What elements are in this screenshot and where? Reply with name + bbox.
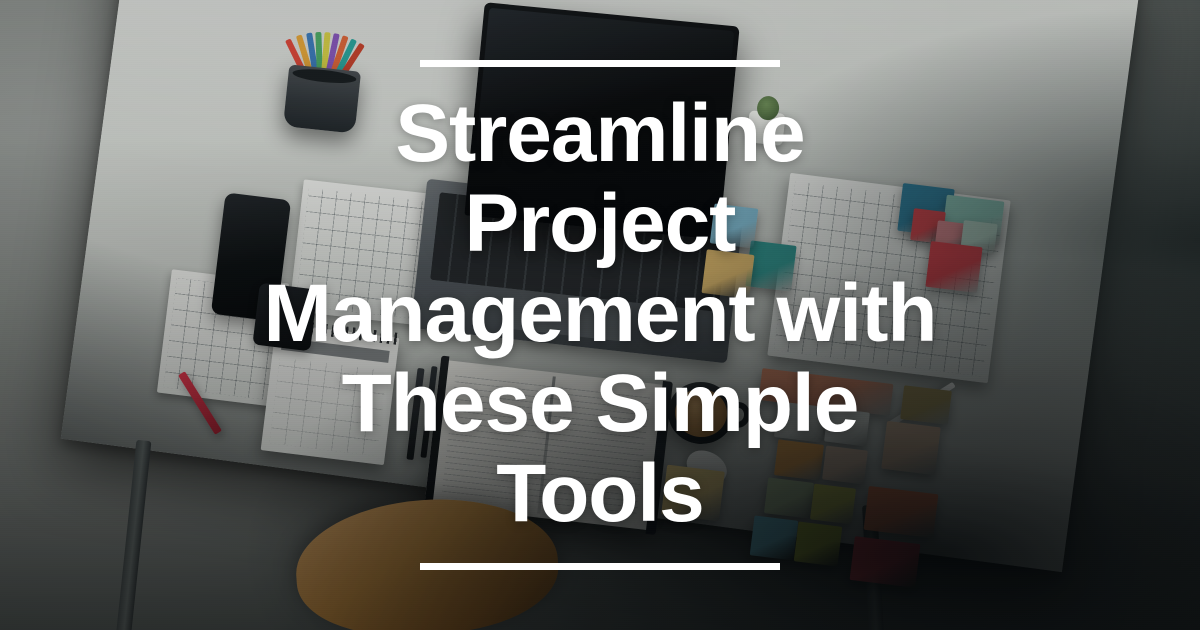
divider-rule-bottom — [420, 563, 780, 570]
banner-root: Streamline Project Management with These… — [0, 0, 1200, 630]
headline-line-2: Management with — [264, 268, 937, 359]
headline-overlay: Streamline Project Management with These… — [0, 0, 1200, 630]
page-title: Streamline Project Management with These… — [250, 89, 950, 539]
headline-line-4: Tools — [496, 448, 704, 539]
headline-line-1: Streamline Project — [395, 88, 804, 269]
headline-line-3: These Simple — [342, 358, 859, 449]
divider-rule-top — [420, 60, 780, 67]
